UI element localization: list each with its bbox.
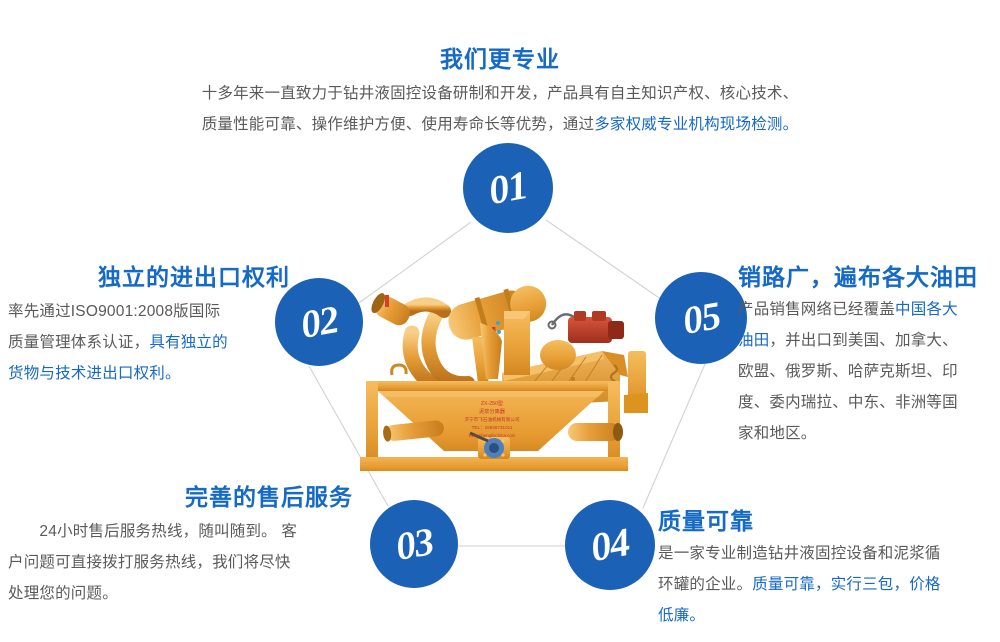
feature-body-03-line3: 处理您的问题。 (8, 578, 353, 609)
feature-body-05-line1: 产品销售网络已经覆盖中国各大 (738, 294, 996, 325)
feature-body-02: 率先通过ISO9001:2008版国际 质量管理体系认证，具有独立的 货物与技术… (8, 296, 290, 389)
feature-block-01: 我们更专业 十多年来一直致力于钻井液固控设备研制和开发，产品具有自主知识产权、核… (150, 44, 850, 140)
feature-body-01-line1: 十多年来一直致力于钻井液固控设备研制和开发，产品具有自主知识产权、核心技术、 (150, 78, 850, 109)
step-circle-01[interactable]: 01 (463, 143, 553, 233)
feature-body-04: 是一家专业制造钻井液固控设备和泥浆循 环罐的企业。质量可靠，实行三包，价格 低廉… (658, 538, 998, 631)
feature-body-05-line5: 家和地区。 (738, 418, 996, 449)
feature-body-01: 十多年来一直致力于钻井液固控设备研制和开发，产品具有自主知识产权、核心技术、 质… (150, 78, 850, 140)
step-number-04: 04 (588, 522, 632, 568)
feature-body-04-line2-plain: 环罐的企业。 (658, 576, 752, 593)
step-circle-05[interactable]: 05 (655, 272, 747, 364)
feature-body-05-line1-highlight: 中国各大 (895, 301, 958, 318)
feature-heading-02: 独立的进出口权利 (8, 262, 290, 292)
feature-body-02-line1: 率先通过ISO9001:2008版国际 (8, 296, 290, 327)
feature-heading-01: 我们更专业 (150, 44, 850, 74)
feature-body-02-line2-plain: 质量管理体系认证， (8, 334, 149, 351)
feature-body-05-line4: 度、委内瑞拉、中东、非洲等国 (738, 387, 996, 418)
feed-chute (504, 311, 530, 375)
feature-body-02-line2-highlight: 具有独立的 (149, 334, 228, 351)
step-number-05: 05 (679, 296, 722, 341)
feature-heading-05: 销路广，遍布各大油田 (738, 262, 996, 292)
feature-block-02: 独立的进出口权利 率先通过ISO9001:2008版国际 质量管理体系认证，具有… (8, 262, 290, 389)
line-05-04 (643, 364, 705, 508)
feature-body-01-line2: 质量性能可靠、操作维护方便、使用寿命长等优势，通过多家权威专业机构现场检测。 (150, 109, 850, 140)
feature-block-05: 销路广，遍布各大油田 产品销售网络已经覆盖中国各大 油田，并出口到美国、加拿大、… (738, 262, 996, 449)
feature-body-04-line2: 环罐的企业。质量可靠，实行三包，价格 (658, 569, 998, 600)
feature-heading-03: 完善的售后服务 (8, 482, 353, 512)
feature-body-05-line2: 油田，并出口到美国、加拿大、 (738, 325, 996, 356)
step-number-01: 01 (486, 165, 530, 211)
feature-block-04: 质量可靠 是一家专业制造钻井液固控设备和泥浆循 环罐的企业。质量可靠，实行三包，… (658, 506, 998, 631)
feature-body-04-line1: 是一家专业制造钻井液固控设备和泥浆循 (658, 538, 998, 569)
plate-line-5: www.shenglinchina.com (469, 433, 516, 438)
feature-body-05-line3: 欧盟、俄罗斯、哈萨克斯坦、印 (738, 356, 996, 387)
feature-body-01-line2-highlight: 多家权威专业机构现场检测。 (594, 116, 798, 133)
plate-line-2: 泥浆分离器 (479, 407, 506, 415)
feature-body-02-line3: 货物与技术进出口权利。 (8, 358, 290, 389)
feature-body-03: 24小时售后服务热线，随叫随到。 客 户问题可直接拨打服务热线，我们将尽快 处理… (8, 516, 353, 609)
step-number-02: 02 (297, 300, 340, 345)
feature-body-01-line2-plain: 质量性能可靠、操作维护方便、使用寿命长等优势，通过 (202, 116, 595, 133)
feature-body-04-line2-highlight: 质量可靠，实行三包，价格 (752, 576, 940, 593)
feature-body-03-line1: 24小时售后服务热线，随叫随到。 客 (8, 516, 353, 547)
feature-body-05-line1-plain: 产品销售网络已经覆盖 (738, 301, 895, 318)
step-circle-04[interactable]: 04 (565, 500, 655, 590)
infographic-canvas: ZX-250型 泥浆分离器 济宁市飞石油机械有限公司 TEL：159367310… (0, 0, 1000, 642)
feature-heading-04: 质量可靠 (658, 506, 998, 536)
machine-illustration: ZX-250型 泥浆分离器 济宁市飞石油机械有限公司 TEL：159367310… (352, 255, 652, 480)
feature-body-04-line3: 低廉。 (658, 600, 998, 631)
step-circle-03[interactable]: 03 (370, 500, 458, 588)
feature-body-02-line2: 质量管理体系认证，具有独立的 (8, 327, 290, 358)
plate-line-3: 济宁市飞石油机械有限公司 (464, 416, 520, 423)
feature-block-03: 完善的售后服务 24小时售后服务热线，随叫随到。 客 户问题可直接拨打服务热线，… (8, 482, 353, 609)
feature-body-05: 产品销售网络已经覆盖中国各大 油田，并出口到美国、加拿大、 欧盟、俄罗斯、哈萨克… (738, 294, 996, 449)
feature-body-05-line2-highlight: 油田 (738, 332, 769, 349)
feature-body-05-line2-plain: ，并出口到美国、加拿大、 (769, 332, 957, 349)
plate-line-4: TEL：15936731011 (472, 425, 513, 430)
vibrator-motor (549, 311, 625, 343)
plate-line-1: ZX-250型 (481, 399, 503, 407)
feature-body-03-line2: 户问题可直接拨打服务热线，我们将尽快 (8, 547, 353, 578)
step-number-03: 03 (392, 522, 435, 567)
